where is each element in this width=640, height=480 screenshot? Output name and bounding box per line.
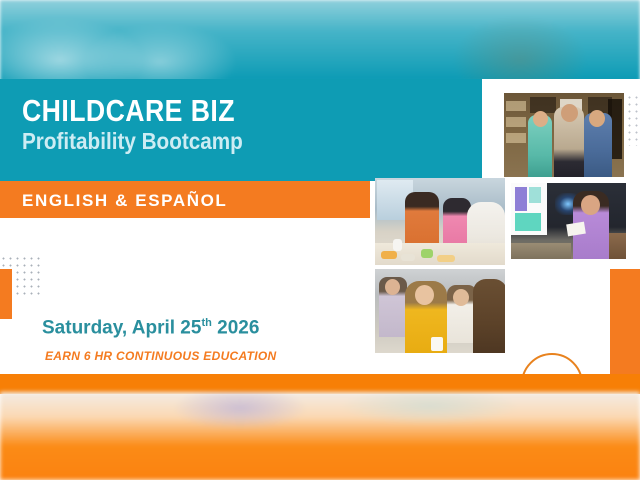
event-date-ordinal: th — [201, 317, 211, 329]
orange-accent-right — [610, 269, 640, 374]
flyer-card: CHILDCARE BIZ Profitability Bootcamp ENG… — [0, 79, 640, 374]
event-date-year: 2026 — [212, 317, 260, 338]
language-bar-label: ENGLISH & ESPAÑOL — [22, 191, 227, 211]
page-title: CHILDCARE BIZ — [22, 95, 235, 126]
egbi-logo-text: egbi — [523, 355, 581, 374]
photo-classroom-table — [375, 178, 505, 265]
event-date: Saturday, April 25th 2026 — [42, 317, 259, 339]
photo-shop-three-women — [504, 93, 624, 177]
photo-audience-smiling — [375, 269, 505, 353]
page-subtitle: Profitability Bootcamp — [22, 130, 243, 153]
egbi-logo: egbi — [521, 353, 583, 374]
orange-accent-left — [0, 269, 12, 319]
flyer-stage: CHILDCARE BIZ Profitability Bootcamp ENG… — [0, 0, 640, 480]
backdrop-bottom-blur — [0, 392, 640, 480]
photo-presenter-podium — [511, 183, 626, 259]
backdrop-top-blur — [0, 0, 640, 82]
continuing-education-note: EARN 6 HR CONTINUOUS EDUCATION — [45, 349, 276, 363]
event-date-main: Saturday, April 25 — [42, 317, 201, 338]
